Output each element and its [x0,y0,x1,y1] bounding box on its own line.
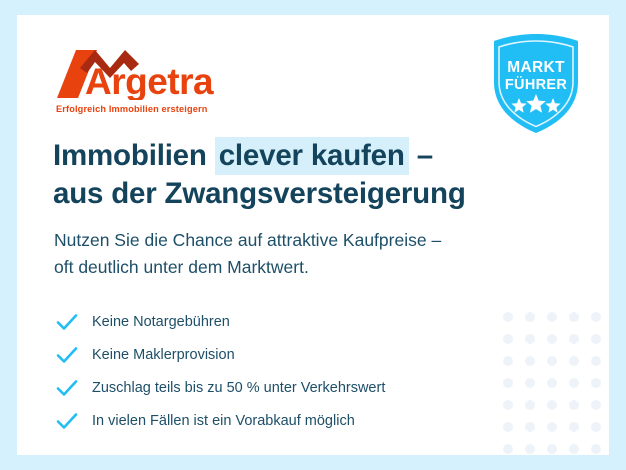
argetra-logo[interactable]: Argetra Erfolgreich Immobilien ersteiger… [55,48,235,120]
list-item-label: Keine Notargebühren [92,313,230,331]
shield-badge-icon: MARKT FÜHRER [488,32,584,136]
headline-highlight: clever kaufen [215,137,409,175]
page-title: Immobilien clever kaufen – aus der Zwang… [53,137,553,213]
benefits-list: Keine Notargebühren Keine Maklerprovisio… [54,305,524,437]
list-item: In vielen Fällen ist ein Vorabkauf mögli… [54,404,524,437]
check-icon [54,309,80,335]
svg-text:MARKT: MARKT [507,59,565,76]
list-item: Keine Notargebühren [54,305,524,338]
check-icon [54,342,80,368]
svg-text:FÜHRER: FÜHRER [505,76,567,93]
argetra-a-roof-icon: Argetra [55,48,233,100]
headline-part1: Immobilien [53,139,215,172]
subtitle-line2: oft deutlich unter dem Marktwert. [54,257,309,277]
check-icon [54,408,80,434]
list-item-label: Zuschlag teils bis zu 50 % unter Verkehr… [92,379,385,397]
list-item: Zuschlag teils bis zu 50 % unter Verkehr… [54,371,524,404]
banner-card: Argetra Erfolgreich Immobilien ersteiger… [17,15,609,455]
list-item-label: Keine Maklerprovision [92,346,235,364]
list-item-label: In vielen Fällen ist ein Vorabkauf mögli… [92,412,355,430]
logo-svg: Argetra [55,48,233,100]
market-leader-badge: MARKT FÜHRER [488,32,584,136]
logo-tagline: Erfolgreich Immobilien ersteigern [56,104,207,114]
subtitle: Nutzen Sie die Chance auf attraktive Kau… [54,227,554,281]
list-item: Keine Maklerprovision [54,338,524,371]
promo-banner: Argetra Erfolgreich Immobilien ersteiger… [0,0,626,470]
check-icon [54,375,80,401]
svg-text:Argetra: Argetra [85,61,214,100]
subtitle-line1: Nutzen Sie die Chance auf attraktive Kau… [54,230,441,250]
headline-part2: – [409,139,433,172]
headline-line2: aus der Zwangsversteigerung [53,177,466,210]
